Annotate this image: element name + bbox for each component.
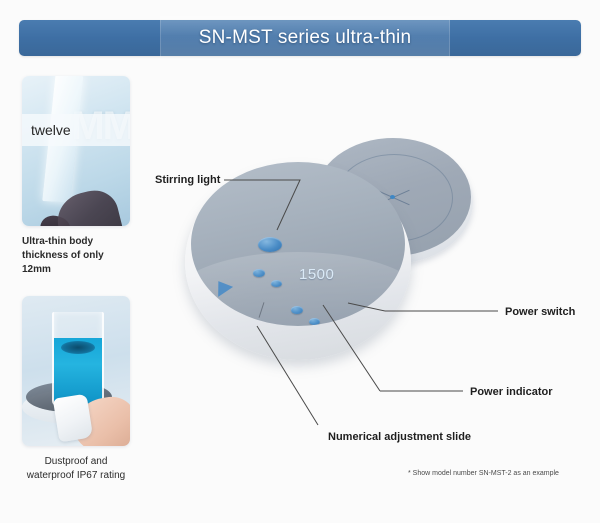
- feature-card-ultra-thin: MM twelve Ultra-thin body thickness of o…: [22, 76, 130, 277]
- callout-stirring-light: Stirring light: [155, 174, 220, 186]
- footnote-text: * Show model number SN-MST-2 as an examp…: [408, 470, 559, 477]
- stirring-light-indicator[interactable]: [258, 237, 282, 252]
- power-icon: ⏻: [354, 319, 364, 326]
- power-indicator-light[interactable]: [309, 318, 320, 325]
- beaker-shape: [52, 312, 104, 406]
- cloth-shape: [53, 394, 93, 443]
- device-illustration: ⏻ 1500 SUNNE: [185, 138, 475, 373]
- feature-caption-waterproof: Dustproof and waterproof IP67 rating: [22, 455, 130, 483]
- header-banner: [19, 20, 581, 56]
- twelve-label: twelve: [22, 122, 71, 138]
- callout-power-switch: Power switch: [505, 306, 575, 318]
- control-base-surface: ⏻ 1500 SUNNE: [191, 162, 405, 326]
- slide-dot-2[interactable]: [271, 280, 282, 287]
- speed-readout: 1500: [299, 266, 334, 283]
- feature-card-waterproof: Dustproof and waterproof IP67 rating: [22, 296, 130, 483]
- slide-dot-1[interactable]: [253, 269, 265, 277]
- infographic-page: SN-MST series ultra-thin MM twelve Ultra…: [0, 0, 600, 523]
- callout-numerical-adjustment-slide: Numerical adjustment slide: [328, 431, 471, 443]
- callout-power-indicator: Power indicator: [470, 386, 553, 398]
- slide-dot-3[interactable]: [291, 306, 303, 314]
- twelve-overlay-band: twelve: [22, 114, 130, 146]
- liquid-vortex-shape: [61, 341, 95, 354]
- ultra-thin-body-photo: MM twelve: [22, 76, 130, 226]
- feature-caption-ultra-thin: Ultra-thin body thickness of only 12mm: [22, 235, 130, 277]
- waterproof-beaker-photo: [22, 296, 130, 446]
